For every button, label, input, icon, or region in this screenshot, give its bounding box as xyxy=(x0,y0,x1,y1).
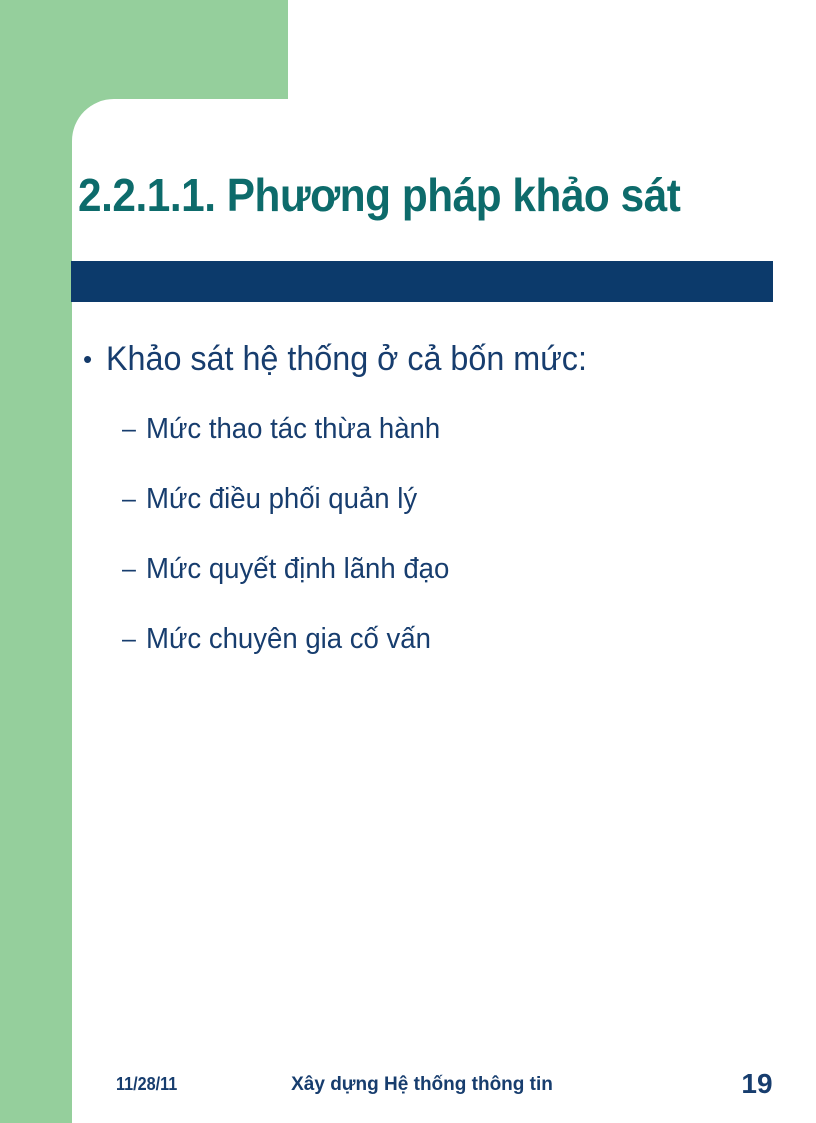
dash-marker-icon: – xyxy=(122,548,146,590)
list-item-label: Mức quyết định lãnh đạo xyxy=(146,548,449,590)
list-item-label: Mức thao tác thừa hành xyxy=(146,408,440,450)
page-title: 2.2.1.1. Phương pháp khảo sát xyxy=(78,171,680,219)
list-item: – Mức điều phối quản lý xyxy=(122,478,778,520)
list-item-label: Khảo sát hệ thống ở cả bốn mức: xyxy=(106,336,587,382)
slide-footer: 11/28/11 Xây dựng Hệ thống thông tin 19 xyxy=(72,1068,816,1110)
footer-page-number: 19 xyxy=(732,1068,782,1100)
list-item-label: Mức chuyên gia cố vấn xyxy=(146,618,431,660)
green-decoration-left-strip xyxy=(0,0,72,1123)
footer-title: Xây dựng Hệ thống thông tin xyxy=(72,1074,772,1096)
slide-body: • Khảo sát hệ thống ở cả bốn mức: – Mức … xyxy=(78,336,778,688)
list-item-label: Mức điều phối quản lý xyxy=(146,478,417,520)
list-item: • Khảo sát hệ thống ở cả bốn mức: xyxy=(78,336,778,382)
dash-marker-icon: – xyxy=(122,478,146,520)
dash-marker-icon: – xyxy=(122,618,146,660)
slide: 2.2.1.1. Phương pháp khảo sát • Khảo sát… xyxy=(0,0,816,1123)
title-underline-bar xyxy=(71,261,773,302)
list-item: – Mức thao tác thừa hành xyxy=(122,408,778,450)
page-title-container: 2.2.1.1. Phương pháp khảo sát xyxy=(78,147,778,243)
dash-marker-icon: – xyxy=(122,408,146,450)
bullet-marker-icon: • xyxy=(78,336,106,382)
sub-list: – Mức thao tác thừa hành – Mức điều phối… xyxy=(78,408,778,660)
list-item: – Mức quyết định lãnh đạo xyxy=(122,548,778,590)
list-item: – Mức chuyên gia cố vấn xyxy=(122,618,778,660)
